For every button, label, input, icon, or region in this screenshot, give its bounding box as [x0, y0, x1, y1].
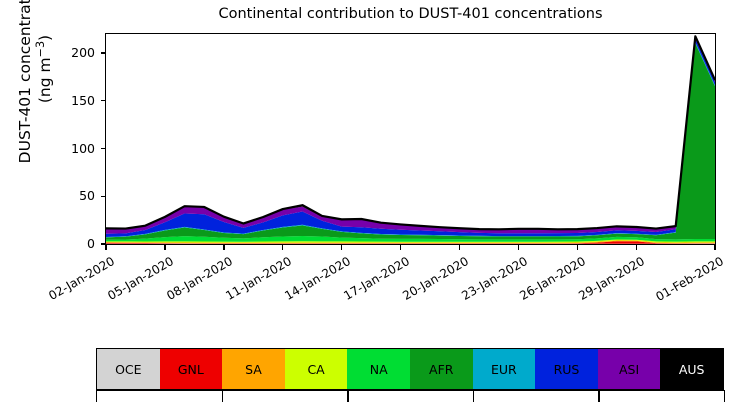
legend-tick-mark: [347, 390, 348, 402]
legend-tick-mark: [598, 390, 599, 402]
total-outline: [106, 36, 715, 229]
y-tick-label: 50: [55, 188, 95, 203]
page-title: Continental contribution to DUST-401 con…: [105, 6, 716, 22]
y-axis-label-line1: DUST-401 concentration: [16, 0, 34, 163]
legend-tick-mark: [96, 390, 97, 402]
legend-item-ca[interactable]: CA: [285, 349, 348, 389]
x-tick-mark: [459, 245, 460, 250]
legend-item-na[interactable]: NA: [347, 349, 410, 389]
y-axis-label: DUST-401 concentration (ng m−3): [23, 0, 49, 189]
legend-item-sa[interactable]: SA: [222, 349, 285, 389]
x-tick-mark: [282, 245, 283, 250]
x-tick-mark: [400, 245, 401, 250]
legend-item-eur[interactable]: EUR: [473, 349, 536, 389]
x-tick-mark: [518, 245, 519, 250]
legend-item-aus[interactable]: AUS: [660, 349, 723, 389]
legend-tick-mark: [724, 390, 725, 402]
legend-item-asi[interactable]: ASI: [598, 349, 661, 389]
x-tick-mark: [223, 245, 224, 250]
plot-area: [105, 33, 716, 245]
y-tick-label: 200: [55, 45, 95, 60]
legend-tick-mark: [222, 390, 223, 402]
area-series-aus: [106, 36, 715, 230]
area-series-asi: [106, 37, 715, 234]
legend-item-oce[interactable]: OCE: [97, 349, 160, 389]
legend-item-gnl[interactable]: GNL: [160, 349, 223, 389]
y-tick-label: 100: [55, 141, 95, 156]
y-tick-label: 0: [55, 236, 95, 251]
x-tick-mark: [636, 245, 637, 250]
y-axis-unit-suffix: ): [36, 35, 54, 41]
x-tick-mark: [164, 245, 165, 250]
legend-colorbar[interactable]: OCEGNLSACANAAFREURRUSASIAUS: [96, 348, 724, 390]
x-tick-mark: [105, 245, 106, 250]
y-axis-unit-exponent: −3: [34, 41, 47, 57]
y-axis-unit-prefix: (ng m: [36, 57, 54, 103]
x-tick-mark: [341, 245, 342, 250]
x-tick-mark: [714, 245, 715, 250]
stacked-area-chart: [106, 34, 715, 244]
legend-tick-marks: [96, 390, 724, 402]
legend-item-afr[interactable]: AFR: [410, 349, 473, 389]
x-tick-label: 01-Feb-2020: [641, 254, 726, 311]
y-axis-label-line2: (ng m−3): [35, 0, 55, 163]
y-tick-label: 150: [55, 93, 95, 108]
legend-tick-mark: [473, 390, 474, 402]
legend-item-rus[interactable]: RUS: [535, 349, 598, 389]
figure-canvas: Continental contribution to DUST-401 con…: [0, 0, 730, 402]
x-tick-mark: [577, 245, 578, 250]
